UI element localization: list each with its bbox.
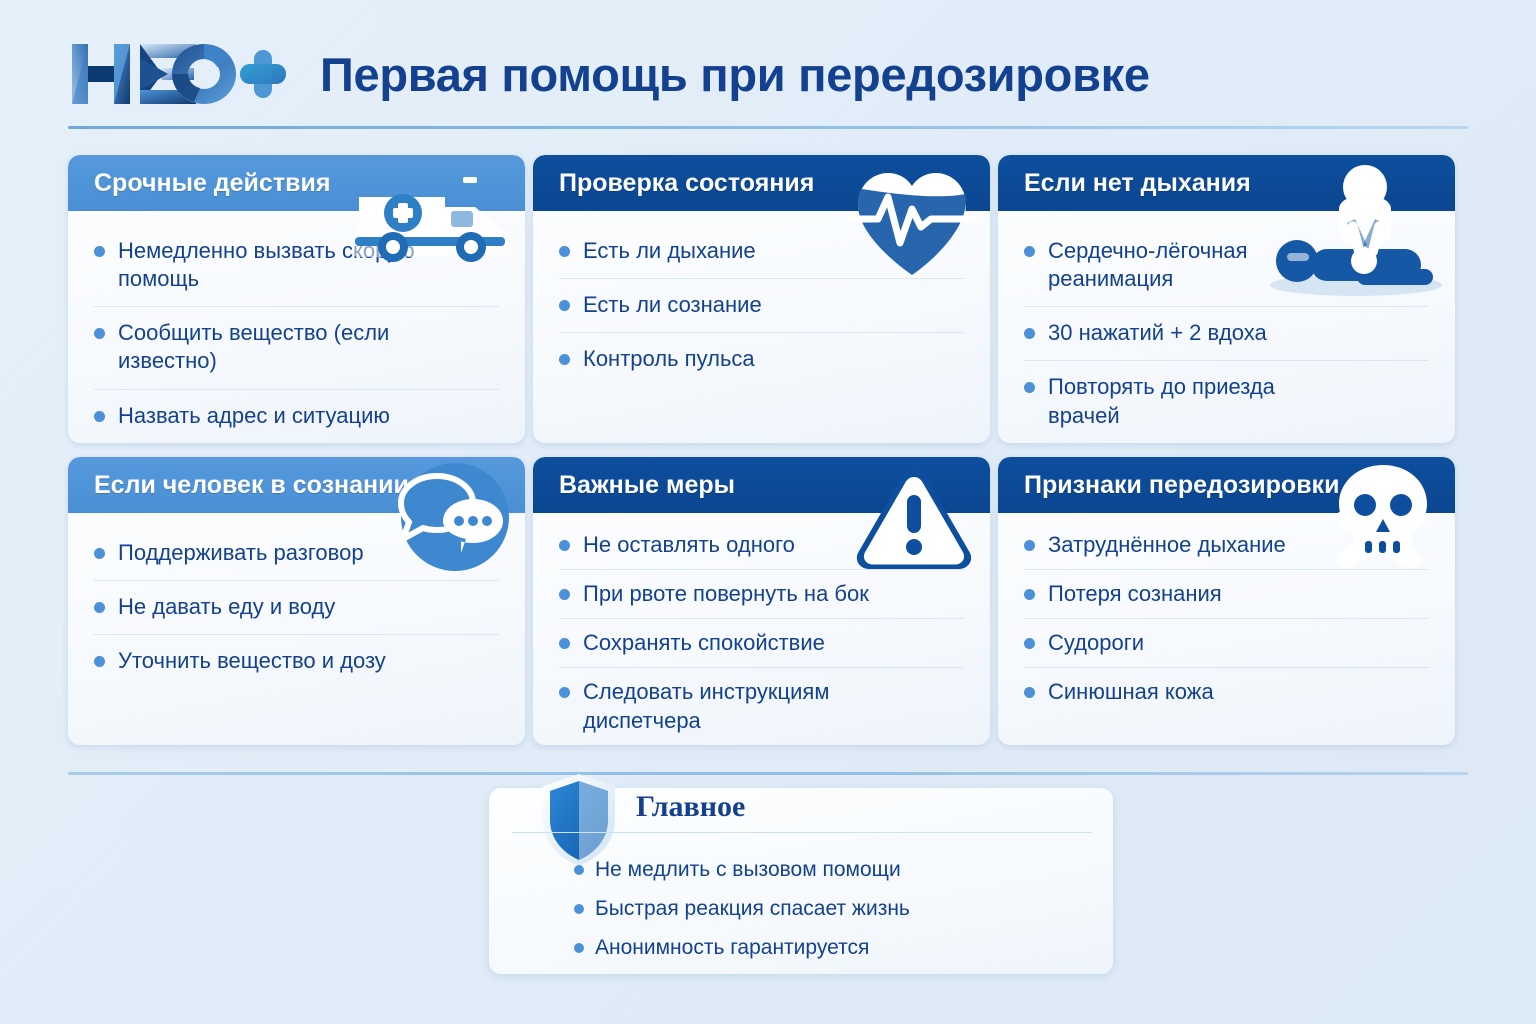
bullet-dot-icon bbox=[1024, 328, 1035, 339]
bullet-dot-icon bbox=[94, 328, 105, 339]
list-item[interactable]: Не давать еду и воду bbox=[94, 581, 499, 635]
list-item[interactable]: 30 нажатий + 2 вдоха bbox=[1024, 307, 1429, 361]
list-item-text: Контроль пульса bbox=[583, 345, 755, 373]
bullet-dot-icon bbox=[94, 246, 105, 257]
bullet-dot-icon bbox=[559, 300, 570, 311]
card-header: Если человек в сознании bbox=[68, 457, 525, 513]
list-item[interactable]: Сердечно-лёгочная реанимация bbox=[1024, 225, 1429, 307]
card-items: Сердечно-лёгочная реанимация 30 нажатий … bbox=[998, 211, 1455, 443]
list-item[interactable]: Анонимность гарантируется bbox=[574, 928, 1094, 967]
list-item[interactable]: Не медлить с вызовом помощи bbox=[574, 850, 1094, 889]
list-item-text: Сообщить вещество (если известно) bbox=[118, 319, 448, 375]
list-item-text: Следовать инструкциям диспетчера bbox=[583, 678, 943, 734]
list-item-text: Уточнить вещество и дозу bbox=[118, 647, 386, 675]
list-item-text: Есть ли дыхание bbox=[583, 237, 756, 265]
list-item-text: Не оставлять одного bbox=[583, 531, 795, 559]
card-conscious-person[interactable]: Если человек в сознании Поддерживать раз… bbox=[68, 457, 525, 745]
card-title: Важные меры bbox=[559, 471, 735, 500]
card-condition-check[interactable]: Проверка состояния Есть ли дыхание Есть … bbox=[533, 155, 990, 443]
card-items: Не оставлять одного При рвоте повернуть … bbox=[533, 513, 990, 745]
list-item-text: Затруднённое дыхание bbox=[1048, 531, 1286, 559]
cards-grid: Срочные действия Немедленно вызвать скор… bbox=[68, 155, 1468, 745]
header-divider bbox=[68, 126, 1468, 129]
list-item-text: Немедленно вызвать скорую помощь bbox=[118, 237, 448, 293]
bullet-dot-icon bbox=[574, 865, 584, 875]
bullet-dot-icon bbox=[559, 638, 570, 649]
list-item[interactable]: Контроль пульса bbox=[559, 333, 964, 386]
bullet-dot-icon bbox=[1024, 246, 1035, 257]
bullet-dot-icon bbox=[559, 589, 570, 600]
list-item[interactable]: Синюшная кожа bbox=[1024, 668, 1429, 716]
bullet-dot-icon bbox=[94, 548, 105, 559]
list-item[interactable]: Немедленно вызвать скорую помощь bbox=[94, 225, 499, 307]
bottom-divider bbox=[68, 772, 1468, 775]
card-header: Признаки передозировки bbox=[998, 457, 1455, 513]
bullet-dot-icon bbox=[94, 656, 105, 667]
card-items: Есть ли дыхание Есть ли сознание Контрол… bbox=[533, 211, 990, 396]
card-overdose-signs[interactable]: Признаки передозировки Затруднённое дыха… bbox=[998, 457, 1455, 745]
card-header: Если нет дыхания bbox=[998, 155, 1455, 211]
card-items: Поддерживать разговор Не давать еду и во… bbox=[68, 513, 525, 698]
list-item[interactable]: Сохранять спокойствие bbox=[559, 619, 964, 668]
list-item-text: Судороги bbox=[1048, 629, 1144, 657]
list-item-text: Быстрая реакция спасает жизнь bbox=[595, 897, 910, 921]
card-title: Признаки передозировки bbox=[1024, 471, 1339, 500]
card-header: Проверка состояния bbox=[533, 155, 990, 211]
summary-list: Не медлить с вызовом помощи Быстрая реак… bbox=[574, 850, 1094, 967]
bullet-dot-icon bbox=[1024, 638, 1035, 649]
list-item-text: Синюшная кожа bbox=[1048, 678, 1214, 706]
card-no-breathing[interactable]: Если нет дыхания bbox=[998, 155, 1455, 443]
brand-logo-icon bbox=[68, 38, 286, 110]
list-item[interactable]: Потеря сознания bbox=[1024, 570, 1429, 619]
card-important-measures[interactable]: Важные меры Не оставлять одного При рвот… bbox=[533, 457, 990, 745]
bullet-dot-icon bbox=[574, 904, 584, 914]
card-title: Проверка состояния bbox=[559, 169, 814, 198]
list-item-text: Не давать еду и воду bbox=[118, 593, 335, 621]
card-title: Срочные действия bbox=[94, 169, 330, 198]
list-item[interactable]: Судороги bbox=[1024, 619, 1429, 668]
card-items: Немедленно вызвать скорую помощь Сообщит… bbox=[68, 211, 525, 443]
summary-title: Главное bbox=[636, 790, 745, 824]
bullet-dot-icon bbox=[559, 354, 570, 365]
list-item-text: Повторять до приезда врачей bbox=[1048, 373, 1333, 429]
card-header: Важные меры bbox=[533, 457, 990, 513]
card-items: Затруднённое дыхание Потеря сознания Суд… bbox=[998, 513, 1455, 727]
page-title: Первая помощь при передозировке bbox=[320, 47, 1150, 102]
bullet-dot-icon bbox=[559, 687, 570, 698]
list-item[interactable]: Повторять до приезда врачей bbox=[1024, 361, 1429, 442]
list-item[interactable]: Есть ли дыхание bbox=[559, 225, 964, 279]
list-item-text: Есть ли сознание bbox=[583, 291, 762, 319]
list-item-text: Сохранять спокойствие bbox=[583, 629, 825, 657]
bullet-dot-icon bbox=[1024, 382, 1035, 393]
list-item-text: Анонимность гарантируется bbox=[595, 936, 869, 960]
list-item[interactable]: Поддерживать разговор bbox=[94, 527, 499, 581]
list-item[interactable]: Затруднённое дыхание bbox=[1024, 521, 1429, 570]
list-item[interactable]: Не оставлять одного bbox=[559, 521, 964, 570]
summary-divider bbox=[512, 832, 1092, 833]
list-item-text: Сердечно-лёгочная реанимация bbox=[1048, 237, 1333, 293]
bullet-dot-icon bbox=[1024, 687, 1035, 698]
bullet-dot-icon bbox=[94, 411, 105, 422]
bullet-dot-icon bbox=[1024, 589, 1035, 600]
list-item[interactable]: Сообщить вещество (если известно) bbox=[94, 307, 499, 389]
bullet-dot-icon bbox=[574, 943, 584, 953]
list-item[interactable]: Следовать инструкциям диспетчера bbox=[559, 668, 964, 744]
bullet-dot-icon bbox=[559, 540, 570, 551]
card-header: Срочные действия bbox=[68, 155, 525, 211]
list-item[interactable]: Назвать адрес и ситуацию bbox=[94, 390, 499, 443]
list-item-text: Потеря сознания bbox=[1048, 580, 1222, 608]
list-item-text: Не медлить с вызовом помощи bbox=[595, 858, 901, 882]
list-item[interactable]: Быстрая реакция спасает жизнь bbox=[574, 889, 1094, 928]
list-item[interactable]: Есть ли сознание bbox=[559, 279, 964, 333]
card-title: Если человек в сознании bbox=[94, 471, 409, 500]
list-item-text: При рвоте повернуть на бок bbox=[583, 580, 869, 608]
list-item[interactable]: При рвоте повернуть на бок bbox=[559, 570, 964, 619]
page-header: Первая помощь при передозировке bbox=[68, 28, 1468, 120]
list-item-text: Поддерживать разговор bbox=[118, 539, 364, 567]
bullet-dot-icon bbox=[94, 602, 105, 613]
card-title: Если нет дыхания bbox=[1024, 169, 1251, 198]
list-item-text: Назвать адрес и ситуацию bbox=[118, 402, 390, 430]
list-item[interactable]: Уточнить вещество и дозу bbox=[94, 635, 499, 688]
list-item-text: 30 нажатий + 2 вдоха bbox=[1048, 319, 1267, 347]
bullet-dot-icon bbox=[1024, 540, 1035, 551]
card-urgent-actions[interactable]: Срочные действия Немедленно вызвать скор… bbox=[68, 155, 525, 443]
bullet-dot-icon bbox=[559, 246, 570, 257]
